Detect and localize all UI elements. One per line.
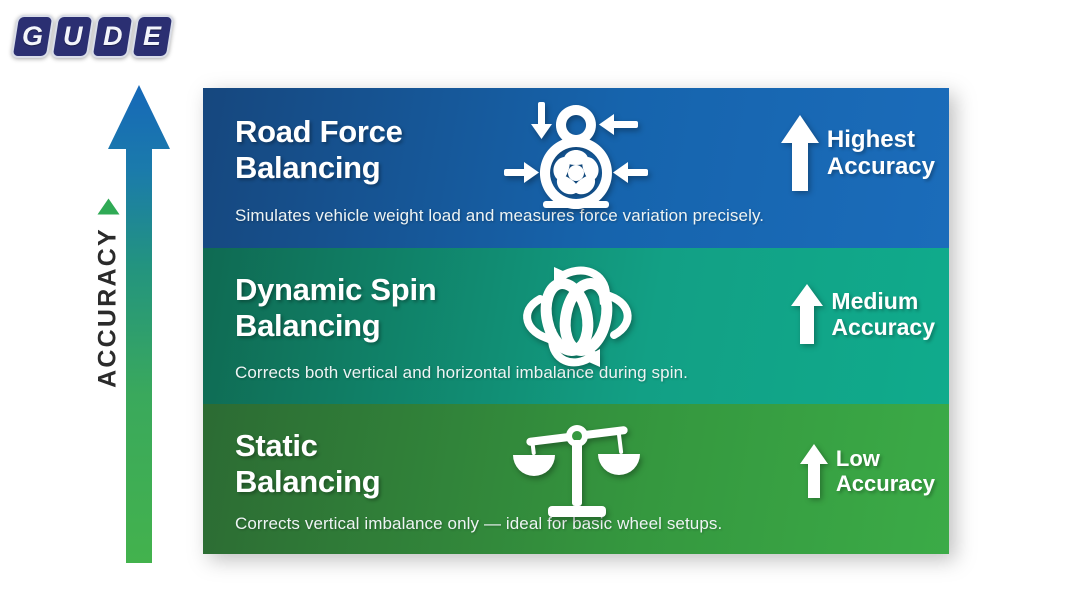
band-static[interactable]: Static Balancing Corrects vertical imbal… [203, 404, 949, 554]
band-description: Corrects vertical imbalance only — ideal… [235, 514, 722, 534]
logo-letter: D [103, 21, 123, 52]
arrow-up-icon [780, 113, 820, 193]
rating-low: Low Accuracy [799, 442, 935, 500]
band-description: Simulates vehicle weight load and measur… [235, 206, 764, 226]
logo-tile-e: E [131, 15, 175, 58]
band-title: Road Force Balancing [235, 114, 403, 187]
logo-letter: E [143, 21, 161, 52]
rating-label: Low Accuracy [836, 446, 935, 496]
band-road-force[interactable]: Road Force Balancing Simulates vehicle w… [203, 88, 949, 248]
rating-label: Medium Accuracy [831, 288, 935, 340]
logo-letter: U [63, 21, 83, 52]
arrow-up-icon [799, 442, 829, 500]
road-force-wheel-icon [501, 97, 651, 209]
balance-scale-icon [510, 418, 642, 522]
band-title: Static Balancing [235, 428, 380, 501]
logo-tiles: G U D E [14, 15, 171, 58]
accuracy-axis: ACCURACY [60, 85, 200, 565]
brand-logo: G U D E [14, 14, 174, 59]
logo-letter: G [22, 21, 43, 52]
accuracy-axis-label: ACCURACY [94, 182, 123, 402]
arrow-up-icon [790, 282, 824, 346]
accuracy-band-stack: Road Force Balancing Simulates vehicle w… [203, 88, 949, 554]
triangle-up-icon [97, 198, 119, 214]
logo-tile-u: U [51, 15, 95, 58]
band-dynamic-spin[interactable]: Dynamic Spin Balancing Corrects both ver… [203, 248, 949, 404]
accuracy-axis-text: ACCURACY [94, 227, 123, 388]
band-title: Dynamic Spin Balancing [235, 272, 436, 345]
rating-label: Highest Accuracy [827, 126, 935, 181]
logo-tile-g: G [11, 15, 55, 58]
logo-tile-d: D [91, 15, 135, 58]
rating-medium: Medium Accuracy [790, 282, 935, 346]
rating-highest: Highest Accuracy [780, 113, 935, 193]
spin-rotation-icon [510, 255, 642, 377]
